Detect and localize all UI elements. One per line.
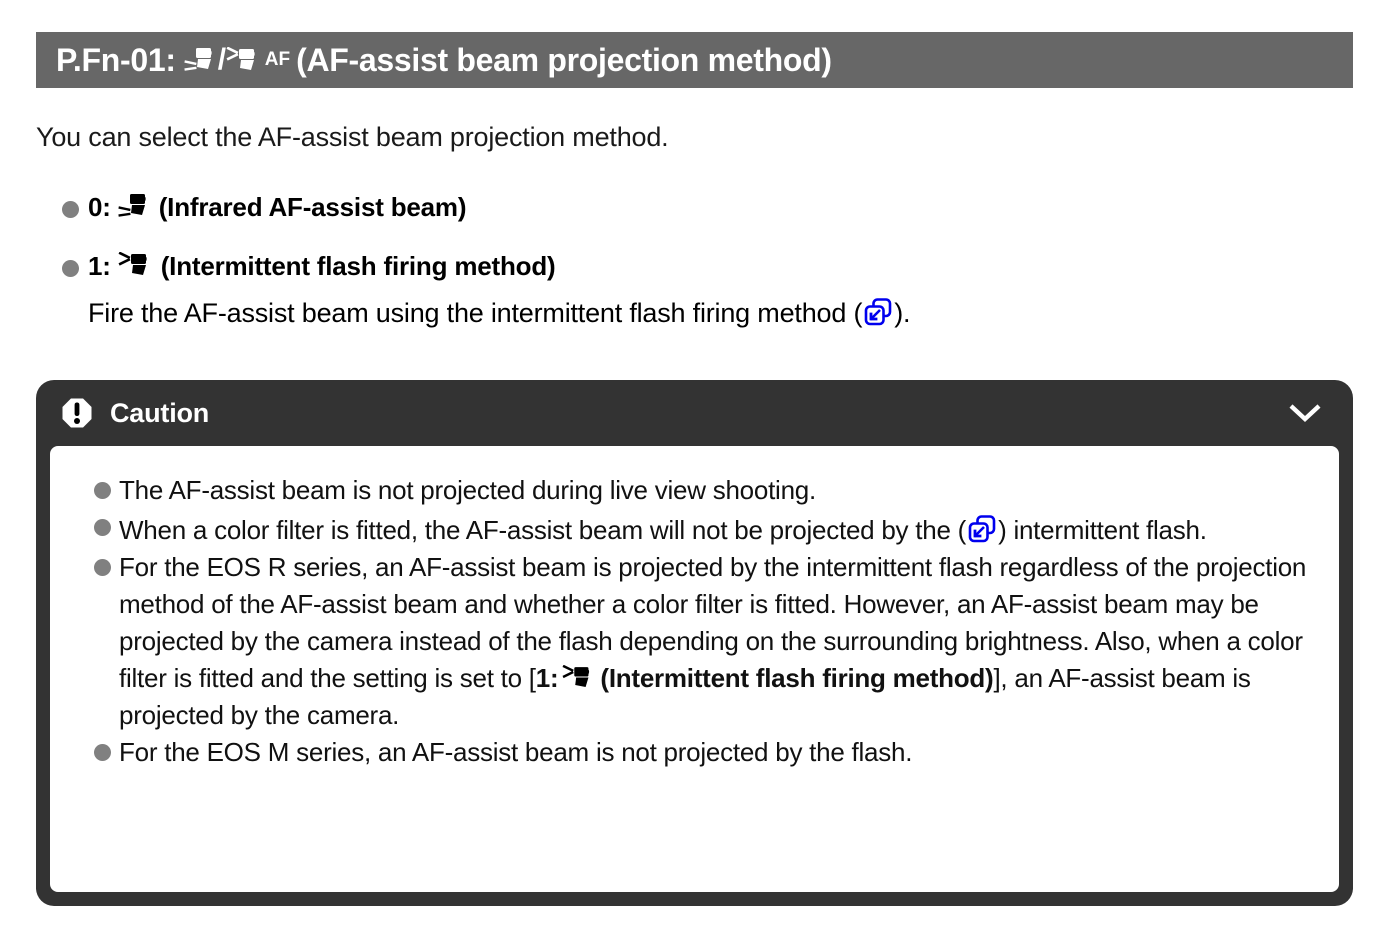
af-assist-infrared-beam-icon [184, 47, 218, 73]
af-assist-intermittent-flash-icon [226, 47, 262, 73]
option-1-description-after: ). [894, 298, 910, 329]
option-list: 0: (Infrared AF-assist beam) 1: [62, 190, 1342, 353]
exclamation-octagon-icon [60, 396, 94, 430]
bullet-icon [94, 482, 111, 499]
page-title-icon-group: / AF [184, 43, 290, 77]
af-assist-infrared-beam-icon [118, 193, 152, 219]
bullet-icon [94, 519, 111, 536]
list-item: For the EOS M series, an AF-assist beam … [94, 734, 1317, 771]
af-assist-intermittent-flash-icon [562, 665, 596, 690]
chevron-down-icon[interactable] [1283, 391, 1327, 435]
cross-reference-link-icon[interactable] [967, 514, 997, 544]
bullet-icon [94, 744, 111, 761]
caution-note-setting-label: (Intermittent flash firing method) [600, 663, 993, 693]
caution-note-eos-r-series: For the EOS R series, an AF-assist beam … [119, 549, 1317, 734]
caution-note-text: When a color filter is fitted, the AF-as… [119, 515, 966, 545]
option-1-text: 1: (Intermittent flash firing method) [88, 249, 555, 282]
caution-body: The AF-assist beam is not projected duri… [50, 446, 1339, 892]
intro-paragraph: You can select the AF-assist beam projec… [36, 122, 668, 153]
option-1-number: 1: [88, 251, 111, 282]
page-title-separator: / [218, 43, 226, 77]
option-1-label: (Intermittent flash firing method) [161, 251, 556, 282]
list-item: 0: (Infrared AF-assist beam) [62, 190, 1342, 223]
bullet-icon [62, 201, 79, 218]
option-1-description-before: Fire the AF-assist beam using the interm… [88, 298, 862, 329]
option-1-description: Fire the AF-assist beam using the interm… [88, 292, 1342, 329]
option-0-label: (Infrared AF-assist beam) [159, 192, 467, 223]
page-title-prefix: P.Fn-01: [56, 42, 176, 79]
caution-note-setting-number: 1: [536, 663, 559, 693]
list-item: When a color filter is fitted, the AF-as… [94, 509, 1317, 549]
caution-note-list: The AF-assist beam is not projected duri… [94, 472, 1317, 771]
option-0-text: 0: (Infrared AF-assist beam) [88, 190, 466, 223]
page-title-text: (AF-assist beam projection method) [296, 42, 832, 79]
bullet-icon [62, 260, 79, 277]
caution-note-text: For the EOS M series, an AF-assist beam … [119, 737, 912, 767]
list-item: The AF-assist beam is not projected duri… [94, 472, 1317, 509]
cross-reference-link-icon[interactable] [863, 297, 893, 327]
caution-title: Caution [110, 398, 209, 429]
caution-note-color-filter: When a color filter is fitted, the AF-as… [119, 509, 1317, 549]
caution-note-live-view: The AF-assist beam is not projected duri… [119, 472, 1317, 509]
page-title-af-label: AF [265, 49, 290, 71]
caution-note-text: The AF-assist beam is not projected duri… [119, 475, 816, 505]
bullet-icon [94, 559, 111, 576]
page-header-bar: P.Fn-01: / [36, 32, 1353, 88]
caution-note-text-cont: ) intermittent flash. [998, 515, 1207, 545]
page-title: P.Fn-01: / [56, 41, 832, 79]
option-0-number: 0: [88, 192, 111, 223]
list-item: 1: (Intermittent flash firing method) [62, 249, 1342, 282]
caution-header[interactable]: Caution [50, 380, 1339, 446]
af-assist-intermittent-flash-icon [118, 252, 154, 278]
list-item: For the EOS R series, an AF-assist beam … [94, 549, 1317, 734]
caution-note-eos-m-series: For the EOS M series, an AF-assist beam … [119, 734, 1317, 771]
caution-panel: Caution The AF-assist beam is not projec… [36, 380, 1353, 906]
